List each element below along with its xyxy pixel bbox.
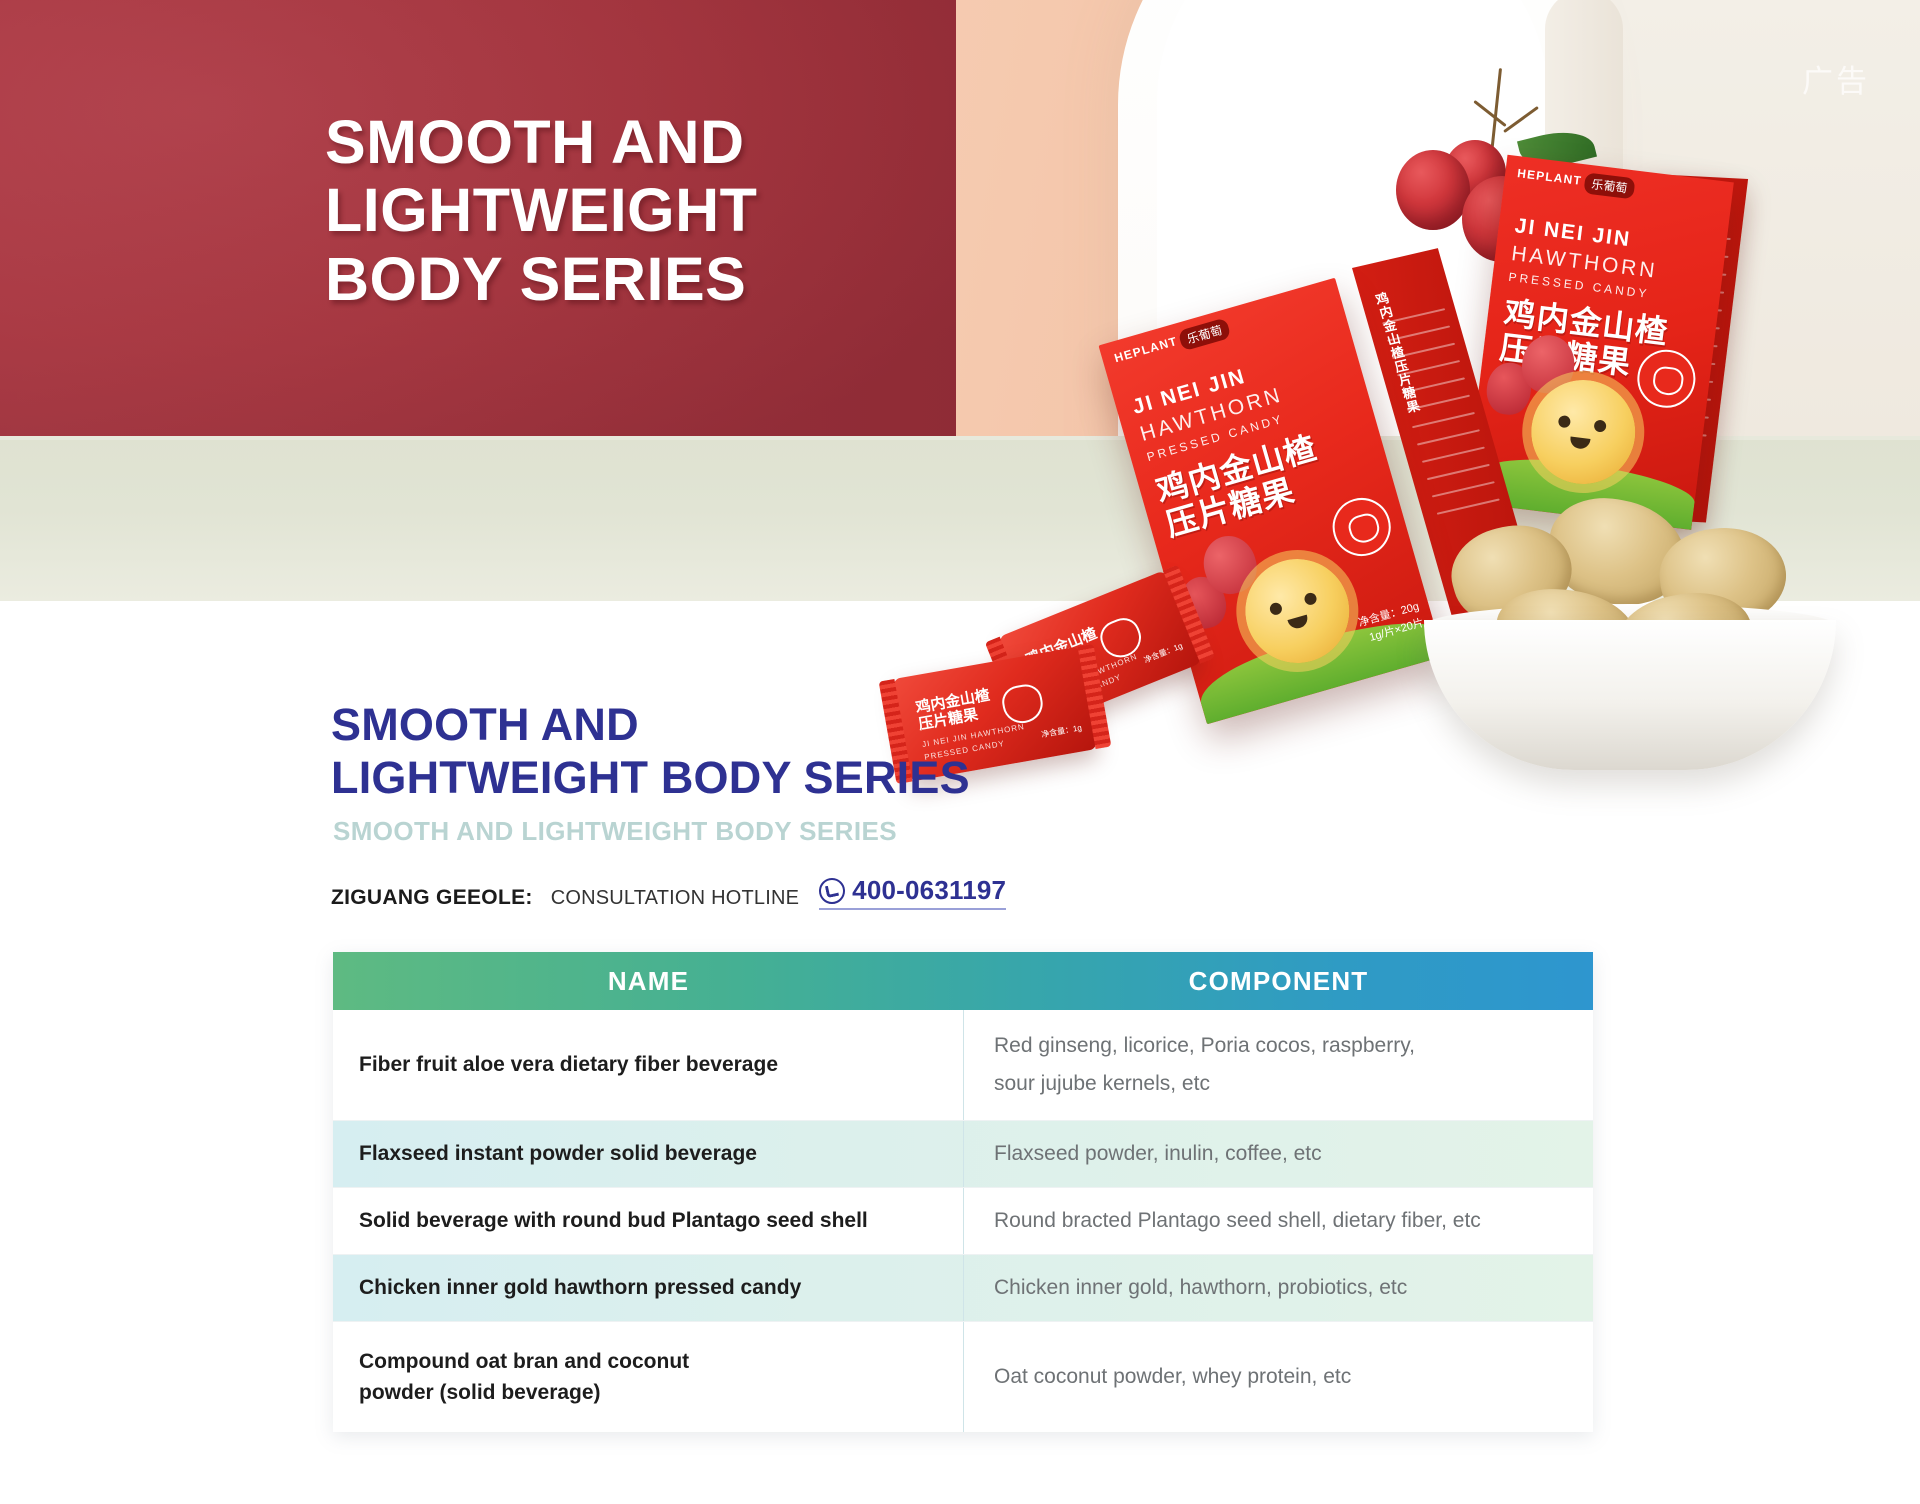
- table-row[interactable]: Chicken inner gold hawthorn pressed cand…: [333, 1255, 1593, 1322]
- table-row[interactable]: Flaxseed instant powder solid beverage F…: [333, 1121, 1593, 1188]
- table-header-component: COMPONENT: [964, 952, 1593, 1010]
- sachet-name-en: JI NEI JIN HAWTHORN PRESSED CANDY: [1038, 651, 1144, 714]
- hotline-label: CONSULTATION HOTLINE: [551, 887, 799, 910]
- company-brand-label: ZIGUANG GEEOLE:: [331, 886, 533, 910]
- table-cell-component: Oat coconut powder, whey protein, etc: [964, 1322, 1593, 1432]
- hero-title: SMOOTH AND LIGHTWEIGHT BODY SERIES: [325, 108, 757, 313]
- hotline-link[interactable]: 400-0631197: [819, 875, 1006, 910]
- table-cell-name: Solid beverage with round bud Plantago s…: [333, 1188, 964, 1254]
- sachet-net-weight: 净含量：1g: [1040, 722, 1082, 740]
- sachet-net-weight: 净含量：1g: [1142, 640, 1184, 666]
- table-header-name: NAME: [333, 952, 964, 1010]
- table-header-row: NAME COMPONENT: [333, 952, 1593, 1010]
- table-cell-component: Red ginseng, licorice, Poria cocos, rasp…: [964, 1010, 1593, 1120]
- table-cell-name: Compound oat bran and coconut powder (so…: [333, 1322, 964, 1432]
- table-row[interactable]: Solid beverage with round bud Plantago s…: [333, 1188, 1593, 1255]
- table-cell-component: Flaxseed powder, inulin, coffee, etc: [964, 1121, 1593, 1187]
- product-component-table: NAME COMPONENT Fiber fruit aloe vera die…: [333, 952, 1593, 1432]
- sachet-name-cn: 鸡内金山楂 压片糖果: [1024, 625, 1106, 685]
- box-net-weight: 净含量：20g 1g/片×20片: [1357, 599, 1426, 648]
- section-subtitle: SMOOTH AND LIGHTWEIGHT BODY SERIES: [333, 816, 897, 847]
- table-cell-component: Round bracted Plantago seed shell, dieta…: [964, 1188, 1593, 1254]
- hero-banner: SMOOTH AND LIGHTWEIGHT BODY SERIES 广告: [0, 0, 1920, 601]
- table-row[interactable]: Compound oat bran and coconut powder (so…: [333, 1322, 1593, 1432]
- table-cell-component: Chicken inner gold, hawthorn, probiotics…: [964, 1255, 1593, 1321]
- table-cell-name: Fiber fruit aloe vera dietary fiber beve…: [333, 1010, 964, 1120]
- sachet-seal-icon: [1095, 613, 1146, 663]
- table-cell-name: Chicken inner gold hawthorn pressed cand…: [333, 1255, 964, 1321]
- bowl-rim: [1424, 604, 1836, 648]
- hotline-number: 400-0631197: [852, 875, 1006, 906]
- advertisement-label: 广告: [1802, 56, 1870, 101]
- hero-floor-surface: [0, 436, 1920, 601]
- ceramic-bowl: [1424, 620, 1836, 770]
- section-title: SMOOTH AND LIGHTWEIGHT BODY SERIES: [331, 699, 970, 804]
- box-grass-graphic: [1193, 606, 1444, 724]
- phone-icon: [819, 878, 845, 904]
- hotline-row: ZIGUANG GEEOLE: CONSULTATION HOTLINE 400…: [331, 875, 1006, 910]
- sachet-seal-icon: [1000, 682, 1046, 726]
- table-row[interactable]: Fiber fruit aloe vera dietary fiber beve…: [333, 1010, 1593, 1121]
- hero-pillar-shape: [1545, 0, 1623, 440]
- table-cell-name: Flaxseed instant powder solid beverage: [333, 1121, 964, 1187]
